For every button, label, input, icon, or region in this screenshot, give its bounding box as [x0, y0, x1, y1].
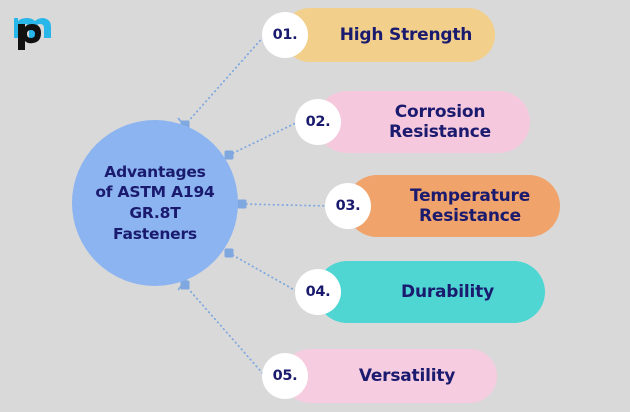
item-number: 05.: [273, 368, 298, 384]
hub-circle: Advantages of ASTM A194 GR.8T Fasteners: [72, 120, 238, 286]
item-label: High Strength: [283, 25, 495, 45]
item-number-badge[interactable]: 04.: [295, 269, 341, 315]
item-number: 01.: [273, 27, 298, 43]
pm-logo: [10, 8, 66, 54]
item-number: 02.: [306, 114, 331, 130]
connector-line: [185, 285, 265, 376]
item-number-badge[interactable]: 03.: [325, 183, 371, 229]
item-label: Temperature Resistance: [346, 186, 560, 227]
item-label: Durability: [316, 282, 545, 302]
connector-line: [229, 122, 298, 155]
infographic-canvas: Advantages of ASTM A194 GR.8T Fasteners …: [0, 0, 630, 412]
hub-title: Advantages of ASTM A194 GR.8T Fasteners: [80, 162, 230, 244]
item-number-badge[interactable]: 05.: [262, 353, 308, 399]
connector-node: [181, 281, 190, 290]
pm-logo-icon: [10, 8, 66, 54]
item-number-badge[interactable]: 02.: [295, 99, 341, 145]
item-number-badge[interactable]: 01.: [262, 12, 308, 58]
connector-node: [238, 200, 247, 209]
item-pill[interactable]: Durability: [316, 261, 545, 323]
item-pill[interactable]: Temperature Resistance: [346, 175, 560, 237]
item-number: 04.: [306, 284, 331, 300]
connector-node: [225, 249, 234, 258]
item-pill[interactable]: Corrosion Resistance: [316, 91, 530, 153]
item-pill[interactable]: High Strength: [283, 8, 495, 62]
item-label: Versatility: [283, 366, 497, 386]
item-label: Corrosion Resistance: [316, 102, 530, 143]
item-pill[interactable]: Versatility: [283, 349, 497, 403]
connector-line: [229, 253, 298, 292]
item-number: 03.: [336, 198, 361, 214]
connector-line: [242, 204, 328, 206]
connector-node: [225, 151, 234, 160]
connector-line: [185, 35, 265, 125]
